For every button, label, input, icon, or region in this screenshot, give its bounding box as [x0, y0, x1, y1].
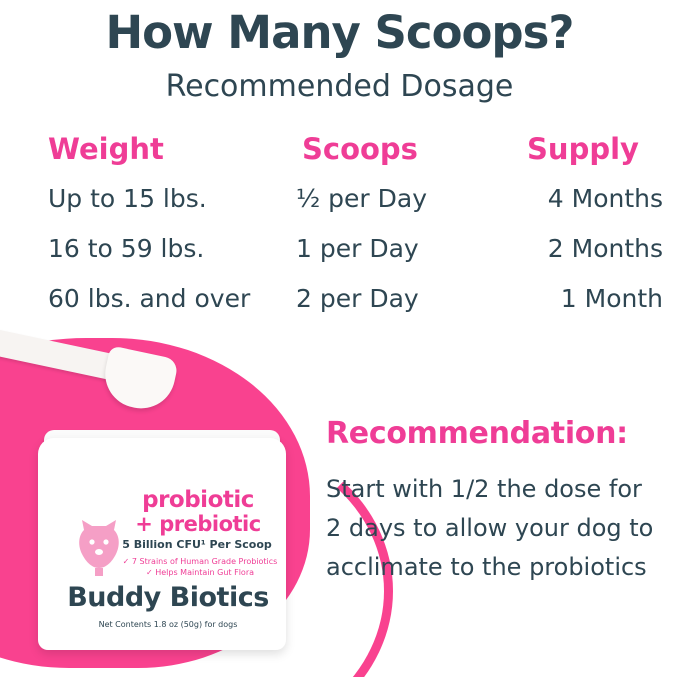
cell-scoops: 1 per Day: [252, 224, 487, 274]
recommendation-body: Start with 1/2 the dose for 2 days to al…: [326, 470, 676, 587]
dosage-table: Weight Scoops Supply Up to 15 lbs. ½ per…: [0, 132, 679, 324]
product-net-contents: Net Contents 1.8 oz (50g) for dogs: [52, 620, 284, 629]
cell-weight: Up to 15 lbs.: [0, 174, 252, 224]
cell-supply: 1 Month: [487, 274, 679, 324]
product-label-line2: + prebiotic: [118, 512, 278, 536]
product-bullets: ✓ 7 Strains of Human Grade Probiotics ✓ …: [118, 556, 282, 578]
product-bullet-1: ✓ 7 Strains of Human Grade Probiotics: [118, 556, 282, 567]
cell-weight: 16 to 59 lbs.: [0, 224, 252, 274]
infographic-page: How Many Scoops? Recommended Dosage Weig…: [0, 0, 679, 677]
page-subtitle: Recommended Dosage: [0, 69, 679, 104]
product-label-line1: probiotic: [118, 488, 278, 512]
recommendation-title: Recommendation:: [326, 416, 628, 451]
cell-scoops: ½ per Day: [252, 174, 487, 224]
cell-supply: 4 Months: [487, 174, 679, 224]
column-header-supply: Supply: [487, 132, 679, 166]
recommendation-line-2: 2 days to allow your dog to: [326, 509, 676, 548]
product-cfu-text: 5 Billion CFU¹ Per Scoop: [112, 538, 282, 551]
table-row: 16 to 59 lbs. 1 per Day 2 Months: [0, 224, 679, 274]
cell-weight: 60 lbs. and over: [0, 274, 252, 324]
table-row: 60 lbs. and over 2 per Day 1 Month: [0, 274, 679, 324]
product-bullet-2: ✓ Helps Maintain Gut Flora: [118, 567, 282, 578]
table-header-row: Weight Scoops Supply: [0, 132, 679, 166]
table-row: Up to 15 lbs. ½ per Day 4 Months: [0, 174, 679, 224]
table-body: Up to 15 lbs. ½ per Day 4 Months 16 to 5…: [0, 174, 679, 324]
recommendation-line-3: acclimate to the probiotics: [326, 548, 676, 587]
column-header-weight: Weight: [0, 132, 252, 166]
product-label-title: probiotic + prebiotic: [118, 488, 278, 536]
recommendation-line-1: Start with 1/2 the dose for: [326, 470, 676, 509]
cell-supply: 2 Months: [487, 224, 679, 274]
column-header-scoops: Scoops: [252, 132, 487, 166]
page-title: How Many Scoops?: [0, 6, 679, 59]
cell-scoops: 2 per Day: [252, 274, 487, 324]
product-brand-name: Buddy Biotics: [52, 582, 284, 613]
